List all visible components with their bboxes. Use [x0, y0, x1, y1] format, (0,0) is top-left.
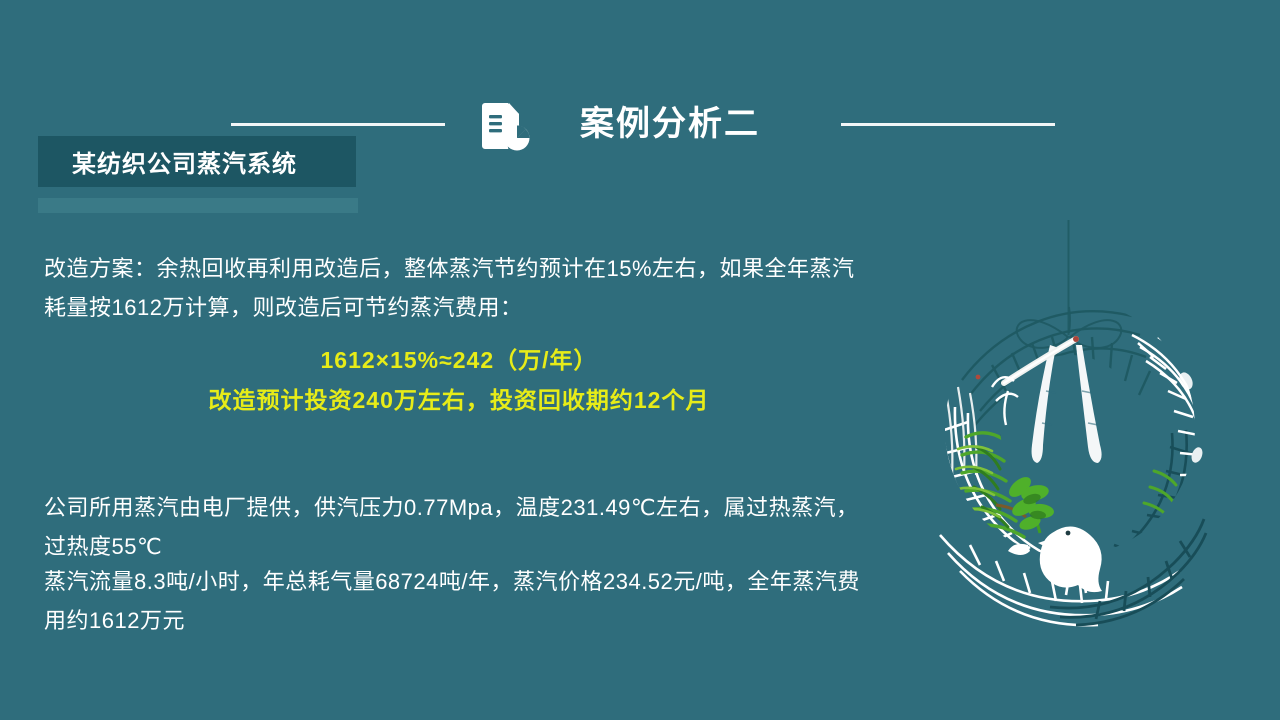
header-rule-right: [841, 123, 1055, 126]
slide-header: 案例分析二: [0, 46, 1280, 114]
formula-payback: 改造预计投资240万左右，投资回收期约12个月: [44, 385, 874, 416]
section-subtitle-label: 某纺织公司蒸汽系统: [72, 144, 297, 179]
section-subtitle-underbar: [38, 198, 358, 213]
slide-canvas: 案例分析二 某纺织公司蒸汽系统 改造方案：余热回收再利用改造后，整体蒸汽节约预计…: [0, 0, 1280, 720]
document-chart-icon: [477, 98, 533, 154]
formula-savings: 1612×15%≈242（万/年）: [44, 345, 874, 376]
hanging-wreath-illustration: [900, 215, 1240, 640]
page-title: 案例分析二: [580, 101, 760, 147]
paragraph-steam-figures: 蒸汽流量8.3吨/小时，年总耗气量68724吨/年，蒸汽价格234.52元/吨，…: [44, 562, 874, 640]
paragraph-steam-supply: 公司所用蒸汽由电厂提供，供汽压力0.77Mpa，温度231.49℃左右，属过热蒸…: [44, 488, 874, 566]
section-subtitle-box: 某纺织公司蒸汽系统: [38, 136, 356, 187]
paragraph-intro: 改造方案：余热回收再利用改造后，整体蒸汽节约预计在15%左右，如果全年蒸汽耗量按…: [44, 249, 874, 327]
header-rule-left: [231, 123, 445, 126]
